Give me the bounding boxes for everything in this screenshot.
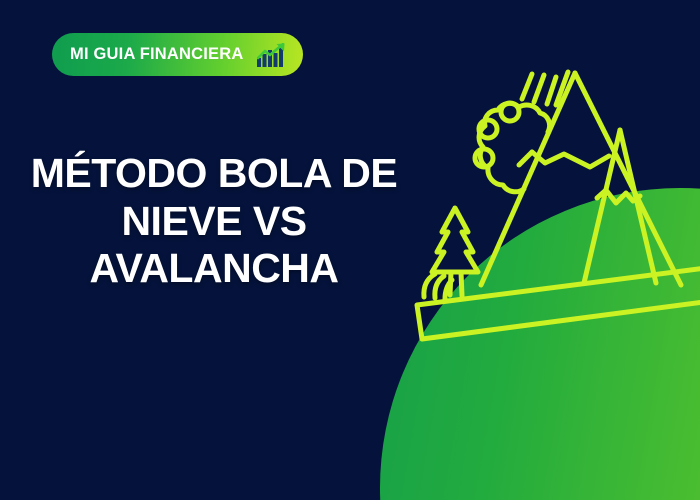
thumbnail-canvas: MI GUIA FINANCIERA MÉTODO BOLA DE NIEVE … — [0, 0, 700, 500]
page-title-line-1: MÉTODO BOLA DE — [8, 150, 420, 198]
growth-bar-chart-icon — [257, 43, 287, 67]
page-title-line-3: AVALANCHA — [8, 245, 420, 293]
page-title-line-2: NIEVE VS — [8, 198, 420, 246]
page-title: MÉTODO BOLA DE NIEVE VS AVALANCHA — [8, 150, 420, 293]
brand-badge[interactable]: MI GUIA FINANCIERA — [52, 33, 303, 76]
brand-badge-label: MI GUIA FINANCIERA — [70, 46, 243, 63]
snowball-cloud — [479, 103, 550, 191]
small-mountain-peak — [584, 130, 656, 283]
